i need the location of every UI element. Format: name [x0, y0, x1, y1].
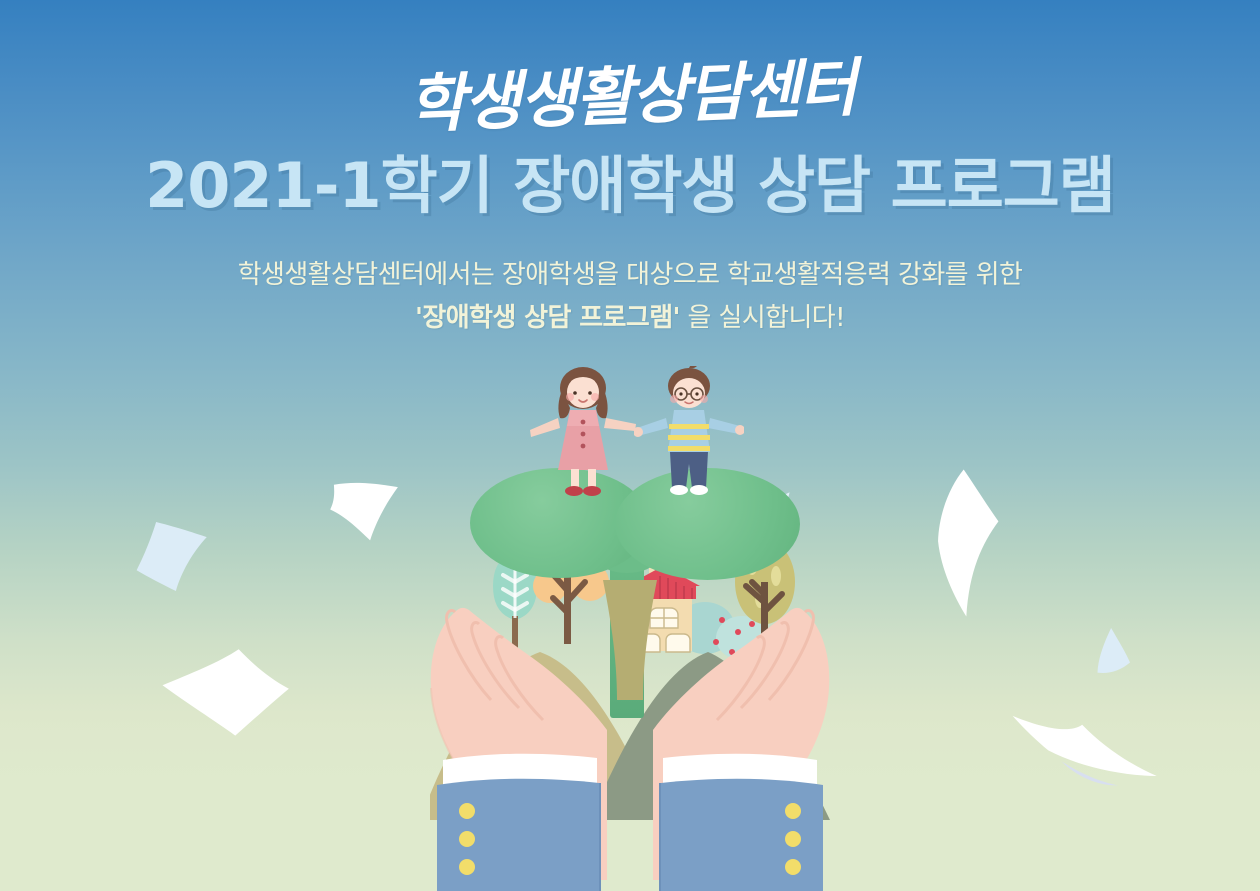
paper-sheet-icon [128, 512, 218, 600]
cupped-hands-group [395, 580, 865, 891]
poster-canvas: 학생생활상담센터 2021-1학기 장애학생 상담 프로그램 학생생활상담센터에… [0, 0, 1260, 891]
center-soil [603, 580, 657, 700]
text-block: 학생생활상담센터 2021-1학기 장애학생 상담 프로그램 학생생활상담센터에… [0, 0, 1260, 340]
description-line-2: '장애학생 상담 프로그램' 을 실시합니다! [0, 297, 1260, 340]
shirt-sleeve-blue [437, 779, 823, 891]
child-girl-figure [528, 366, 638, 498]
description-line-1: 학생생활상담센터에서는 장애학생을 대상으로 학교생활적응력 강화를 위한 [0, 218, 1260, 297]
paper-sheet-icon [328, 480, 404, 547]
paper-sheet-icon [159, 645, 294, 742]
child-boy-figure [634, 366, 744, 498]
paper-sheet-icon [1078, 625, 1134, 681]
description-line-2-rest: 을 실시합니다! [680, 303, 845, 333]
description-program-name: '장애학생 상담 프로그램' [415, 303, 680, 333]
paper-sheet-icon [1007, 710, 1162, 802]
paper-sheet-icon [922, 465, 1007, 621]
